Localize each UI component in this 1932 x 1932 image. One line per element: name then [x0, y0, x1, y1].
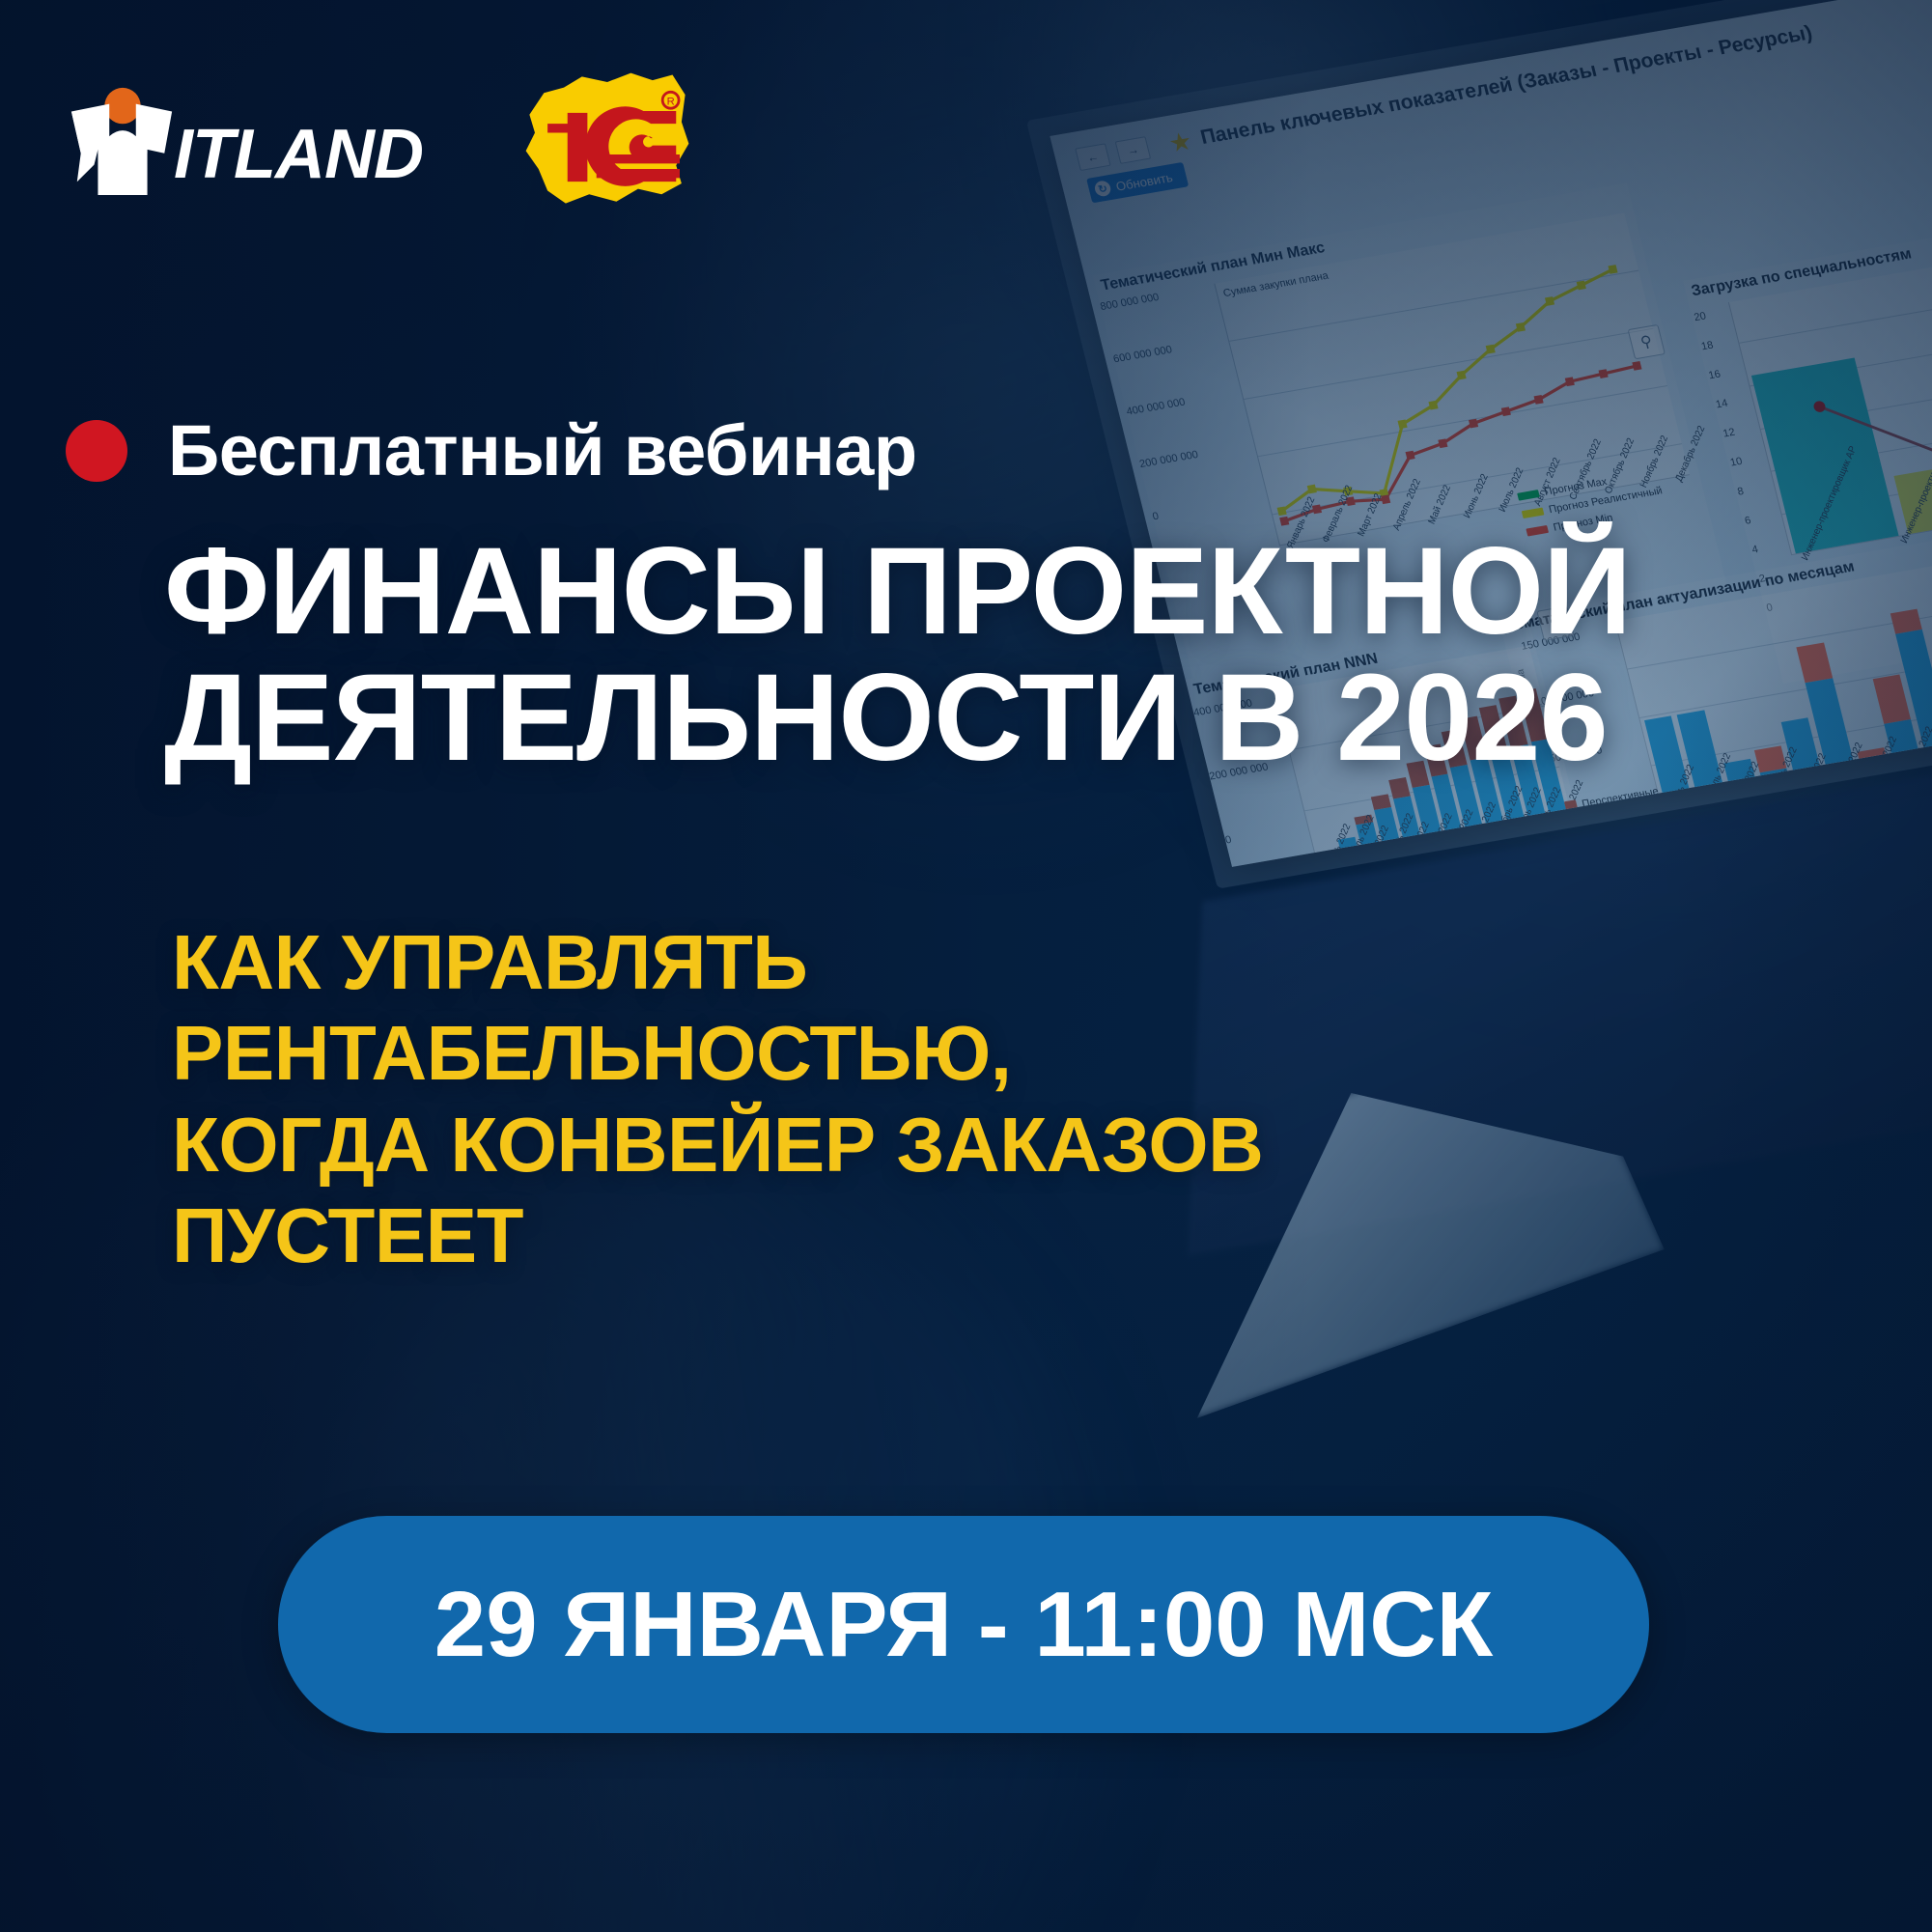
red-dot-icon — [66, 420, 127, 482]
one-c-logo[interactable]: R — [516, 68, 699, 212]
date-time-button[interactable]: 29 ЯНВАРЯ - 11:00 МСК — [278, 1516, 1649, 1733]
page-title: ФИНАНСЫ ПРОЕКТНОЙ ДЕЯТЕЛЬНОСТИ В 2026 — [164, 529, 1651, 781]
webinar-promo-poster: ← → ★ Панель ключевых показателей (Заказ… — [0, 0, 1932, 1932]
subtitle-line-2: РЕНТАБЕЛЬНОСТЬЮ, — [172, 1008, 1427, 1099]
free-webinar-label: Бесплатный вебинар — [168, 415, 917, 487]
subtitle-line-1: КАК УПРАВЛЯТЬ — [172, 917, 1427, 1008]
itland-logo[interactable]: ITLAND — [66, 83, 423, 197]
itland-wordmark: ITLAND — [174, 120, 423, 189]
logo-row: ITLAND R — [66, 68, 699, 212]
page-subtitle: КАК УПРАВЛЯТЬ РЕНТАБЕЛЬНОСТЬЮ, КОГДА КОН… — [172, 917, 1427, 1282]
title-line-1: ФИНАНСЫ ПРОЕКТНОЙ — [164, 529, 1651, 656]
one-c-brush-logo-icon: R — [516, 68, 699, 212]
free-webinar-badge: Бесплатный вебинар — [66, 415, 917, 487]
svg-text:R: R — [667, 96, 675, 107]
subtitle-line-3: КОГДА КОНВЕЙЕР ЗАКАЗОВ — [172, 1100, 1427, 1190]
subtitle-line-4: ПУСТЕЕТ — [172, 1190, 1427, 1281]
itland-flag-person-icon — [66, 83, 180, 197]
date-time-label: 29 ЯНВАРЯ - 11:00 МСК — [434, 1572, 1493, 1678]
title-line-2: ДЕЯТЕЛЬНОСТИ В 2026 — [164, 656, 1651, 782]
